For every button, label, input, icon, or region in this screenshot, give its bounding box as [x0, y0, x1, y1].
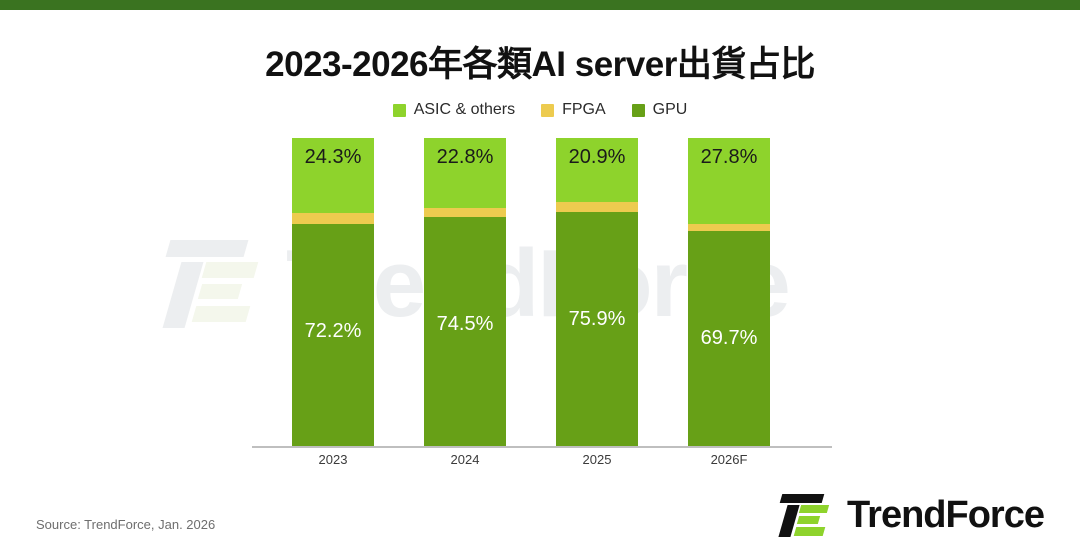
source-note: Source: TrendForce, Jan. 2026: [36, 517, 215, 532]
x-axis-label-2024: 2024: [424, 452, 506, 467]
legend-label-asic: ASIC & others: [414, 101, 515, 119]
bar-segment-fpga[interactable]: 2.7%: [424, 208, 506, 216]
bar-group-2023[interactable]: 24.3% 3.5% 72.2% 2023: [292, 138, 374, 446]
bar-value-asic: 22.8%: [424, 146, 506, 169]
bar-segment-gpu[interactable]: 72.2%: [292, 224, 374, 446]
stacked-bar[interactable]: 27.8% 2.5% 69.7%: [688, 138, 770, 446]
bar-value-asic: 24.3%: [292, 146, 374, 169]
stacked-bar[interactable]: 24.3% 3.5% 72.2%: [292, 138, 374, 446]
chart-legend: ASIC & others FPGA GPU: [0, 101, 1080, 119]
bar-value-gpu: 74.5%: [424, 313, 506, 336]
slide-canvas: 2023-2026年各類AI server出貨占比 ASIC & others …: [0, 0, 1080, 560]
bar-segment-asic[interactable]: 22.8%: [424, 138, 506, 208]
bar-segment-gpu[interactable]: 74.5%: [424, 217, 506, 447]
legend-label-fpga: FPGA: [562, 101, 606, 119]
bar-group-2024[interactable]: 22.8% 2.7% 74.5% 2024: [424, 138, 506, 446]
bar-value-gpu: 72.2%: [292, 320, 374, 343]
legend-label-gpu: GPU: [653, 101, 688, 119]
x-axis-line: [252, 446, 832, 448]
bar-value-gpu: 69.7%: [688, 327, 770, 350]
x-axis-label-2026f: 2026F: [688, 452, 770, 467]
bar-group-2025[interactable]: 20.9% 3.2% 75.9% 2025: [556, 138, 638, 446]
top-accent-stripe: [0, 0, 1080, 10]
bar-segment-asic[interactable]: 20.9%: [556, 138, 638, 202]
bar-segment-fpga[interactable]: 2.5%: [688, 224, 770, 232]
bar-segment-asic[interactable]: 27.8%: [688, 138, 770, 224]
legend-item-fpga[interactable]: FPGA: [541, 101, 606, 119]
chart-plot-area: 24.3% 3.5% 72.2% 2023 22.8% 2.7%: [252, 140, 832, 448]
legend-swatch-asic: [393, 104, 406, 117]
bar-group-2026f[interactable]: 27.8% 2.5% 69.7% 2026F: [688, 138, 770, 446]
bar-segment-gpu[interactable]: 69.7%: [688, 231, 770, 446]
x-axis-label-2023: 2023: [292, 452, 374, 467]
bar-value-asic: 27.8%: [688, 146, 770, 169]
bar-value-gpu: 75.9%: [556, 308, 638, 331]
legend-item-gpu[interactable]: GPU: [632, 101, 688, 119]
bar-segment-asic[interactable]: 24.3%: [292, 138, 374, 213]
stacked-bar[interactable]: 22.8% 2.7% 74.5%: [424, 138, 506, 446]
trendforce-logo-mark: [781, 493, 837, 537]
legend-item-asic[interactable]: ASIC & others: [393, 101, 515, 119]
x-axis-label-2025: 2025: [556, 452, 638, 467]
legend-swatch-gpu: [632, 104, 645, 117]
stacked-bar[interactable]: 20.9% 3.2% 75.9%: [556, 138, 638, 446]
page-title: 2023-2026年各類AI server出貨占比: [0, 36, 1080, 87]
bar-segment-fpga[interactable]: 3.5%: [292, 213, 374, 224]
bar-value-asic: 20.9%: [556, 146, 638, 169]
bar-segment-gpu[interactable]: 75.9%: [556, 212, 638, 446]
trendforce-logo: TrendForce: [781, 492, 1044, 538]
legend-swatch-fpga: [541, 104, 554, 117]
trendforce-logo-text: TrendForce: [847, 496, 1044, 534]
bar-segment-fpga[interactable]: 3.2%: [556, 202, 638, 212]
